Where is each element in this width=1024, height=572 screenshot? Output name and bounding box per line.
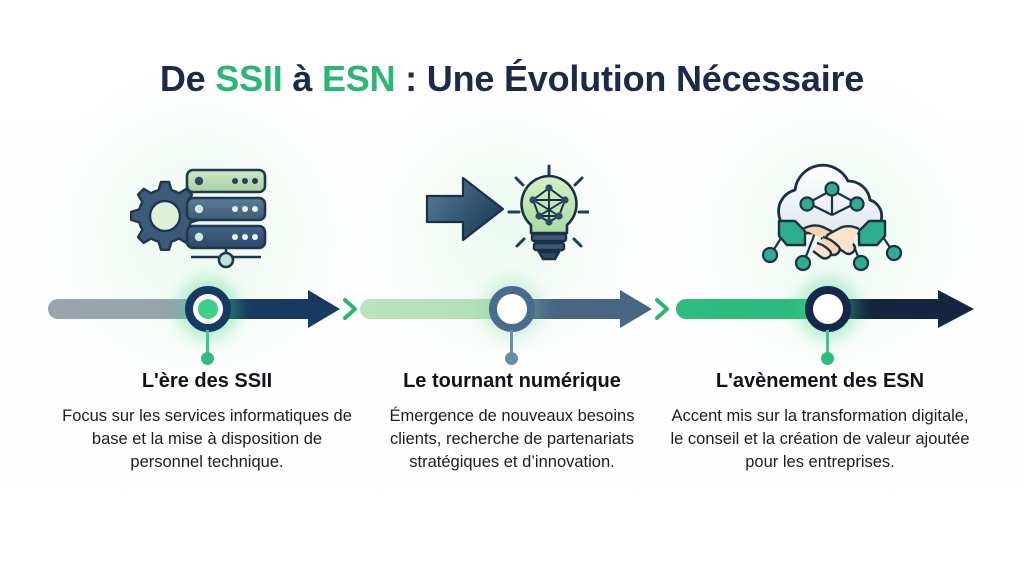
title-part-a: à (283, 58, 322, 99)
arrow-lightbulb-network-icon (421, 160, 589, 277)
caption-ssii: L'ère des SSII Focus sur les services in… (57, 370, 357, 473)
caption-body: Émergence de nouveaux besoins clients, r… (362, 405, 662, 473)
arrow-head (938, 290, 974, 328)
node-stem-dot-esn (821, 352, 834, 365)
arrow-head (308, 290, 340, 328)
caption-body: Focus sur les services informatiques de … (57, 405, 357, 473)
title-part-ssii: SSII (215, 58, 282, 99)
timeline-node-ssii[interactable] (185, 286, 231, 332)
infographic-canvas: De SSII à ESN : Une Évolution Nécessaire (0, 0, 1024, 572)
chevron-separator-2 (654, 298, 672, 320)
gear-server-icon (125, 160, 275, 277)
chevron-separator-1 (342, 298, 360, 320)
timeline-node-esn[interactable] (805, 286, 851, 332)
timeline-node-tournant[interactable] (489, 286, 535, 332)
timeline-bar-ssii (48, 299, 200, 319)
caption-heading: Le tournant numérique (362, 370, 662, 393)
caption-body: Accent mis sur la transformation digital… (670, 405, 970, 473)
title-part-rest: : Une Évolution Nécessaire (395, 58, 864, 99)
icon-slot-ssii (100, 158, 300, 278)
node-center (818, 299, 838, 319)
caption-esn: L'avènement des ESN Accent mis sur la tr… (670, 370, 970, 473)
title-part-1: De (160, 58, 215, 99)
arrow-head (620, 290, 652, 328)
icon-slot-tournant (405, 158, 605, 278)
caption-heading: L'ère des SSII (57, 370, 357, 393)
captions-row: L'ère des SSII Focus sur les services in… (0, 370, 1024, 510)
cloud-handshake-network-icon (753, 159, 911, 278)
title-part-esn: ESN (322, 58, 395, 99)
timeline (0, 278, 1024, 368)
page-title: De SSII à ESN : Une Évolution Nécessaire (0, 58, 1024, 100)
icon-slot-esn (732, 158, 932, 278)
node-center (198, 299, 218, 319)
caption-tournant: Le tournant numérique Émergence de nouve… (362, 370, 662, 473)
caption-heading: L'avènement des ESN (670, 370, 970, 393)
node-stem-dot-tournant (505, 352, 518, 365)
node-center (502, 299, 522, 319)
icons-row (0, 158, 1024, 278)
node-stem-dot-ssii (201, 352, 214, 365)
